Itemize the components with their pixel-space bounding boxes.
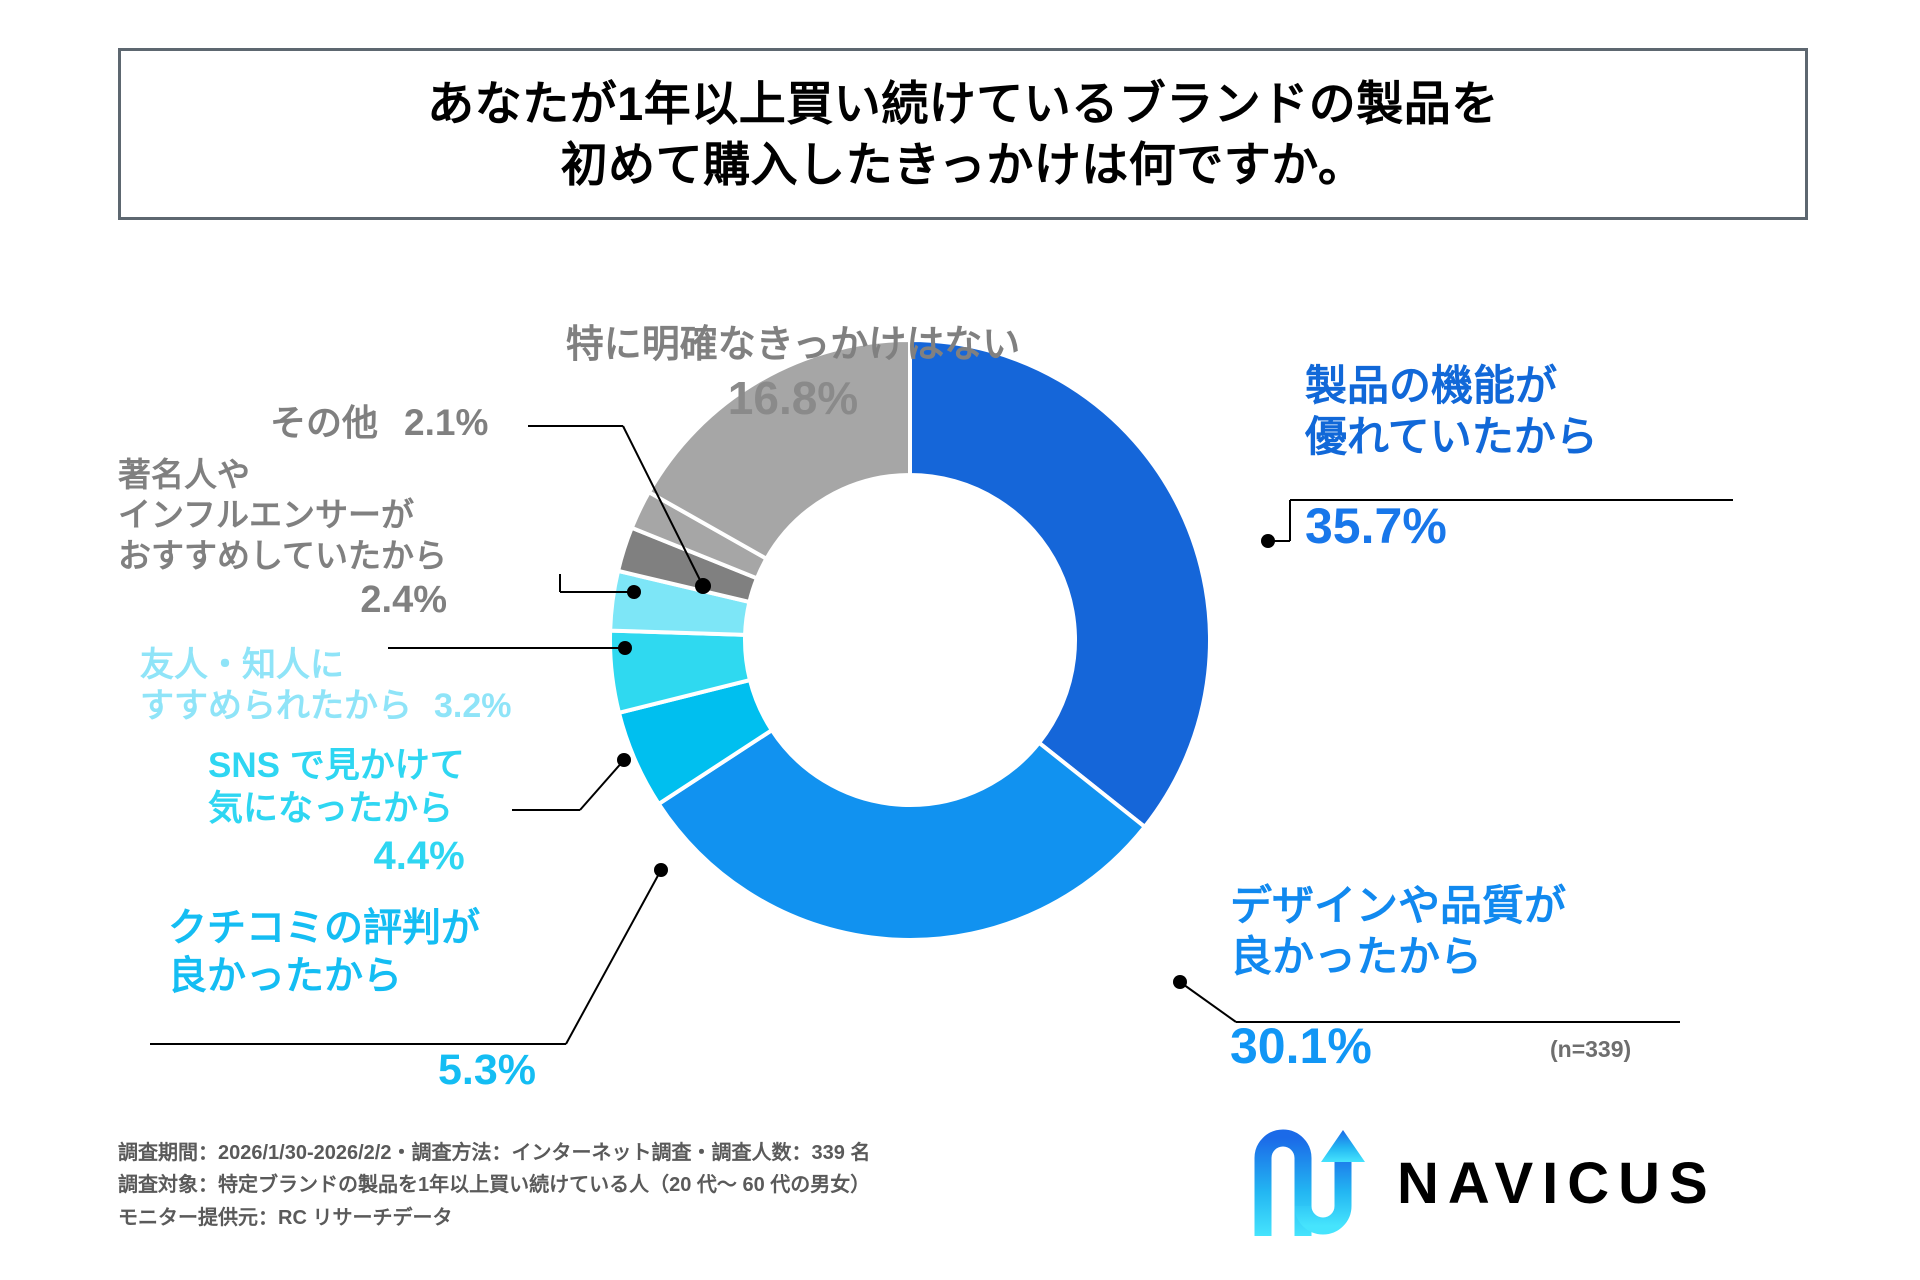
footer-notes: 調査期間：2026/1/30-2026/2/2・調査方法：インターネット調査・調… — [118, 1137, 870, 1234]
slice-label-friend-pct: 3.2% — [434, 686, 512, 727]
slice-label-friend-l2: すすめられたから — [140, 686, 412, 727]
slice-label-design-l1: デザインや品質が — [1230, 880, 1566, 931]
footer-line-1: 調査期間：2026/1/30-2026/2/2・調査方法：インターネット調査・調… — [118, 1137, 870, 1169]
infographic-page: あなたが1年以上買い続けているブランドの製品を 初めて購入したきっかけは何ですか… — [0, 0, 1920, 1280]
slice-label-none-text: 特に明確なきっかけはない — [508, 322, 1078, 368]
slice-label-design-pct: 30.1% — [1230, 1016, 1566, 1077]
slice-label-kuchikomi-l2: 良かったから — [168, 953, 536, 1001]
slice-label-friend-l1: 友人・知人に — [140, 645, 512, 686]
slice-label-kuchikomi: クチコミの評判が 良かったから 5.3% — [168, 905, 536, 1097]
slice-label-friend: 友人・知人に すすめられたから 3.2% — [140, 645, 512, 728]
slice-label-function-l2: 優れていたから — [1305, 411, 1598, 462]
navicus-mark-icon — [1253, 1128, 1371, 1238]
slice-label-influencer-l1: 著名人や — [118, 455, 447, 495]
slice-label-sns: SNS で見かけて 気になったから 4.4% — [208, 745, 465, 881]
slice-label-none-pct: 16.8% — [508, 370, 1078, 426]
slice-label-function-l1: 製品の機能が — [1305, 360, 1598, 411]
slice-label-other: その他 2.1% — [270, 400, 488, 445]
slice-label-kuchikomi-pct: 5.3% — [438, 1044, 536, 1096]
slice-label-design-l2: 良かったから — [1230, 931, 1566, 982]
slice-label-influencer-pct: 2.4% — [118, 577, 447, 623]
footer-line-3: モニター提供元：RC リサーチデータ — [118, 1202, 870, 1234]
slice-label-influencer: 著名人や インフルエンサーが おすすめしていたから 2.4% — [118, 455, 447, 623]
slice-label-sns-l1: SNS で見かけて — [208, 745, 465, 788]
sample-size-note: (n=339) — [1550, 1036, 1631, 1063]
navicus-logo: NAVICUS — [1253, 1128, 1717, 1238]
navicus-wordmark: NAVICUS — [1397, 1150, 1717, 1217]
slice-label-none: 特に明確なきっかけはない 16.8% — [508, 322, 1078, 426]
slice-label-other-text: その他 — [270, 401, 378, 445]
slice-label-function-pct: 35.7% — [1305, 496, 1598, 557]
slice-label-sns-pct: 4.4% — [208, 832, 465, 881]
chart-stage: 特に明確なきっかけはない 16.8% その他 2.1% 著名人や インフルエンサ… — [0, 0, 1920, 1280]
slice-label-design: デザインや品質が 良かったから 30.1% — [1230, 880, 1566, 1077]
slice-label-kuchikomi-l1: クチコミの評判が — [168, 905, 536, 953]
slice-label-influencer-l3: おすすめしていたから — [118, 536, 447, 576]
footer-line-2: 調査対象：特定ブランドの製品を1年以上買い続けている人（20 代〜 60 代の男… — [118, 1169, 870, 1201]
slice-label-function: 製品の機能が 優れていたから 35.7% — [1305, 360, 1598, 557]
slice-label-influencer-l2: インフルエンサーが — [118, 495, 447, 535]
slice-label-sns-l2: 気になったから — [208, 788, 465, 831]
slice-label-other-pct: 2.1% — [404, 400, 488, 445]
